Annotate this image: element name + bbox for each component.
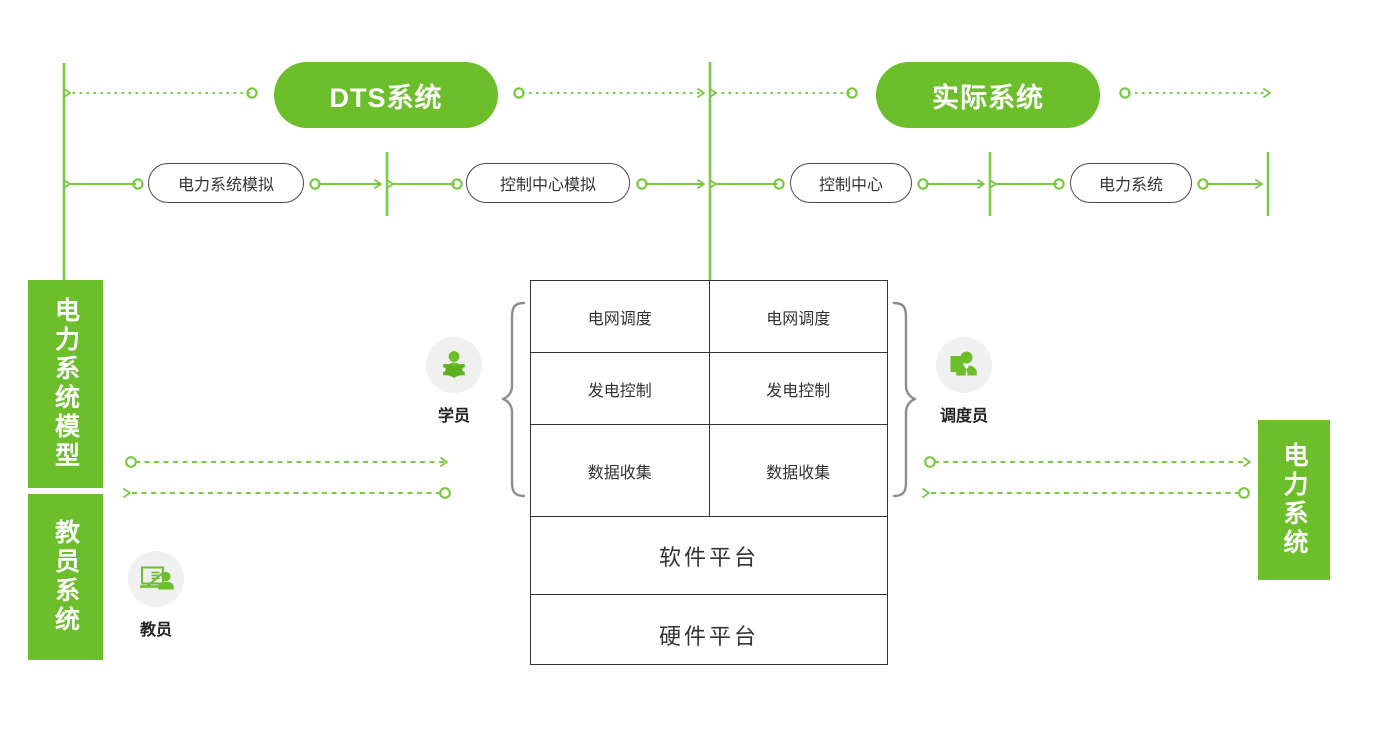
cell-data-collection-left: 数据收集 (531, 425, 710, 516)
cell-data-collection-right: 数据收集 (710, 425, 888, 516)
role-instructor[interactable]: 教员 (128, 551, 184, 640)
table-row: 发电控制 发电控制 (531, 353, 887, 425)
span-dot (918, 179, 927, 188)
capsule-control-center-simulation[interactable]: 控制中心模拟 (466, 163, 630, 203)
table-row-software-platform: 软件平台 (531, 516, 887, 594)
span-dot (1054, 179, 1063, 188)
brace-right (894, 303, 915, 496)
cell-generation-control-left: 发电控制 (531, 353, 710, 424)
scope-dot (1120, 88, 1129, 97)
diagram-canvas: DTS系统 实际系统 电力系统模拟 控制中心模拟 控制中心 电力系统 电力系统模… (0, 0, 1389, 729)
span-dot (1198, 179, 1207, 188)
table-row: 数据收集 数据收集 (531, 425, 887, 516)
table-row-hardware-platform: 硬件平台 (531, 594, 887, 674)
cell-grid-dispatch-right: 电网调度 (710, 281, 888, 352)
exchange-dot (440, 488, 450, 498)
avatar-disc (128, 551, 184, 607)
side-bar-instructor-system: 教员系统 (28, 494, 103, 660)
role-label: 教员 (140, 616, 172, 640)
avatar-disc (426, 337, 482, 393)
system-stack-table: 电网调度 电网调度 发电控制 发电控制 数据收集 数据收集 软件平台 硬件平台 (530, 280, 888, 665)
scope-dot (514, 88, 523, 97)
scope-dot (847, 88, 856, 97)
capsule-power-system[interactable]: 电力系统 (1070, 163, 1192, 203)
scope-pill-dts[interactable]: DTS系统 (274, 62, 498, 128)
capsule-power-system-simulation[interactable]: 电力系统模拟 (148, 163, 304, 203)
exchange-dot (126, 457, 136, 467)
span-dot (133, 179, 142, 188)
person-reading-book-icon (437, 348, 471, 382)
avatar-disc (936, 337, 992, 393)
role-label: 调度员 (940, 402, 988, 426)
capsule-control-center[interactable]: 控制中心 (790, 163, 912, 203)
side-bar-power-system: 电力系统 (1258, 420, 1330, 580)
span-dot (637, 179, 646, 188)
brace-left (503, 303, 524, 496)
span-dot (310, 179, 319, 188)
table-row: 电网调度 电网调度 (531, 281, 887, 353)
span-dot (774, 179, 783, 188)
span-dot (452, 179, 461, 188)
person-dispatcher-icon (947, 348, 981, 382)
role-student[interactable]: 学员 (426, 337, 482, 426)
role-label: 学员 (438, 402, 470, 426)
person-teaching-board-icon (138, 562, 174, 596)
scope-pill-real[interactable]: 实际系统 (876, 62, 1100, 128)
exchange-dot (925, 457, 935, 467)
cell-generation-control-right: 发电控制 (710, 353, 888, 424)
cell-grid-dispatch-left: 电网调度 (531, 281, 710, 352)
scope-dot (247, 88, 256, 97)
exchange-dot (1239, 488, 1249, 498)
side-bar-power-system-model: 电力系统模型 (28, 280, 103, 488)
role-dispatcher[interactable]: 调度员 (936, 337, 992, 426)
